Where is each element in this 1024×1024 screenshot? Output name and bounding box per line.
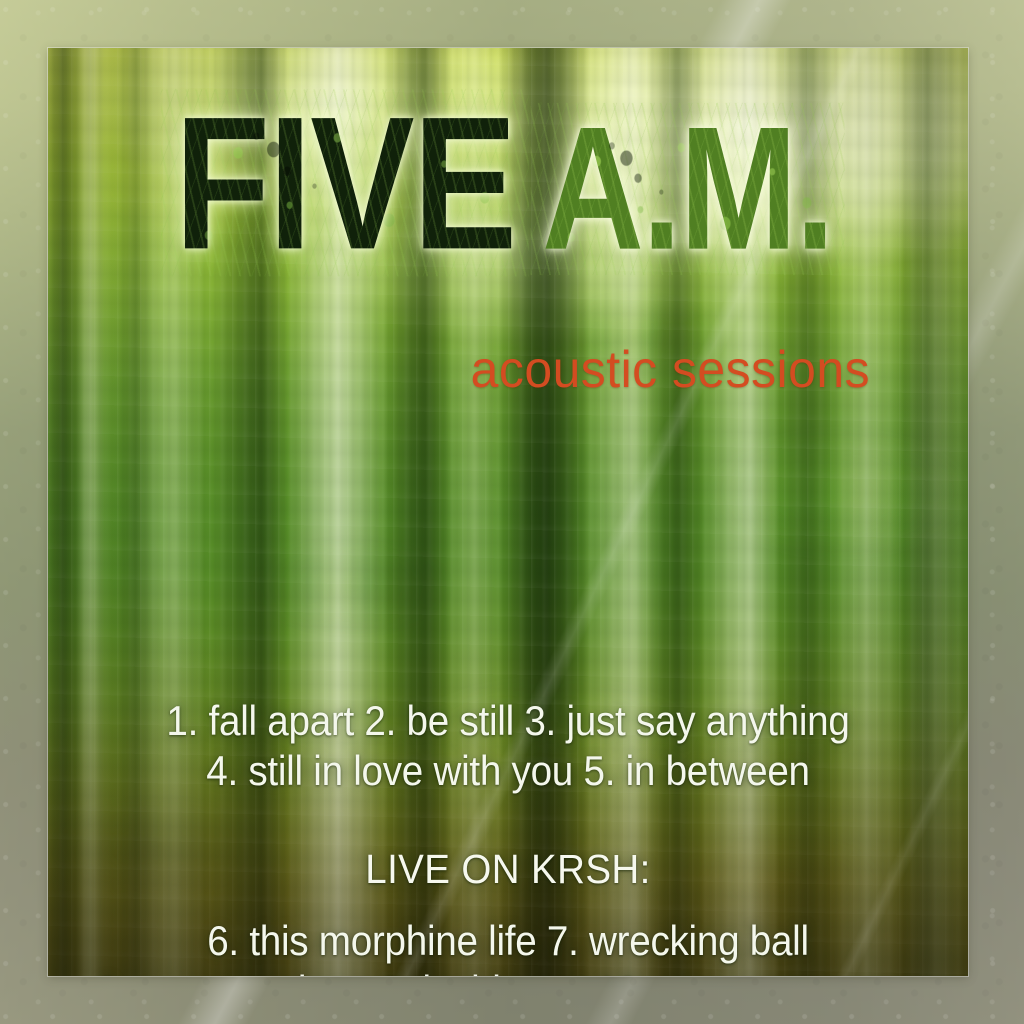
- album-title-word-am: A.M.: [542, 112, 833, 266]
- tracklist-line-live-2: 8. come undone 9. inside out 10. open yo…: [85, 966, 931, 976]
- tracklist: 1. fall apart 2. be still 3. just say an…: [48, 696, 968, 976]
- cover-content: FIVE A.M. acoustic sessions 1. fall apar…: [48, 48, 968, 976]
- title-splatter-texture: [175, 100, 516, 267]
- cover-photo: FIVE A.M. acoustic sessions 1. fall apar…: [48, 48, 968, 976]
- album-title: FIVE A.M.: [48, 106, 968, 266]
- title-splatter-texture: [542, 112, 833, 266]
- tracklist-line-live-1: 6. this morphine life 7. wrecking ball: [85, 916, 931, 966]
- title-grunge-texture: [530, 103, 844, 276]
- tracklist-line-studio-1: 1. fall apart 2. be still 3. just say an…: [85, 696, 931, 746]
- tracklist-live-heading: LIVE ON KRSH:: [76, 844, 941, 894]
- album-title-word-five: FIVE: [175, 100, 516, 267]
- tracklist-live-spacer: [48, 894, 968, 916]
- album-subtitle: acoustic sessions: [471, 340, 870, 400]
- tracklist-line-studio-2: 4. still in love with you 5. in between: [85, 746, 931, 796]
- album-cover: FIVE A.M. acoustic sessions 1. fall apar…: [0, 0, 1024, 1024]
- title-grunge-texture: [161, 90, 529, 277]
- tracklist-spacer: [48, 796, 968, 844]
